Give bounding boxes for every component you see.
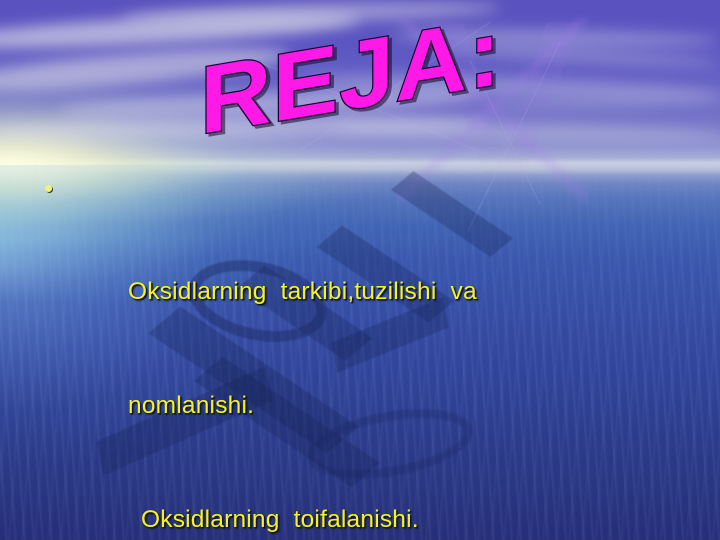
- body-line: Oksidlarning tarkibi,tuzilishi va: [128, 273, 708, 311]
- body-line: nomlanishi.: [128, 387, 708, 425]
- body-line: Oksidlarning toifalanishi.: [128, 501, 708, 539]
- wordart-svg: REJA: REJA:: [196, 22, 576, 152]
- slide-body-text: Oksidlarning tarkibi,tuzilishi va nomlan…: [128, 197, 708, 540]
- presentation-slide: REJA: REJA: Oksidlarning tarkibi,tuzilis…: [0, 0, 720, 540]
- slide-title-wordart: REJA: REJA:: [196, 22, 576, 152]
- bullet-point-marker: [45, 185, 52, 192]
